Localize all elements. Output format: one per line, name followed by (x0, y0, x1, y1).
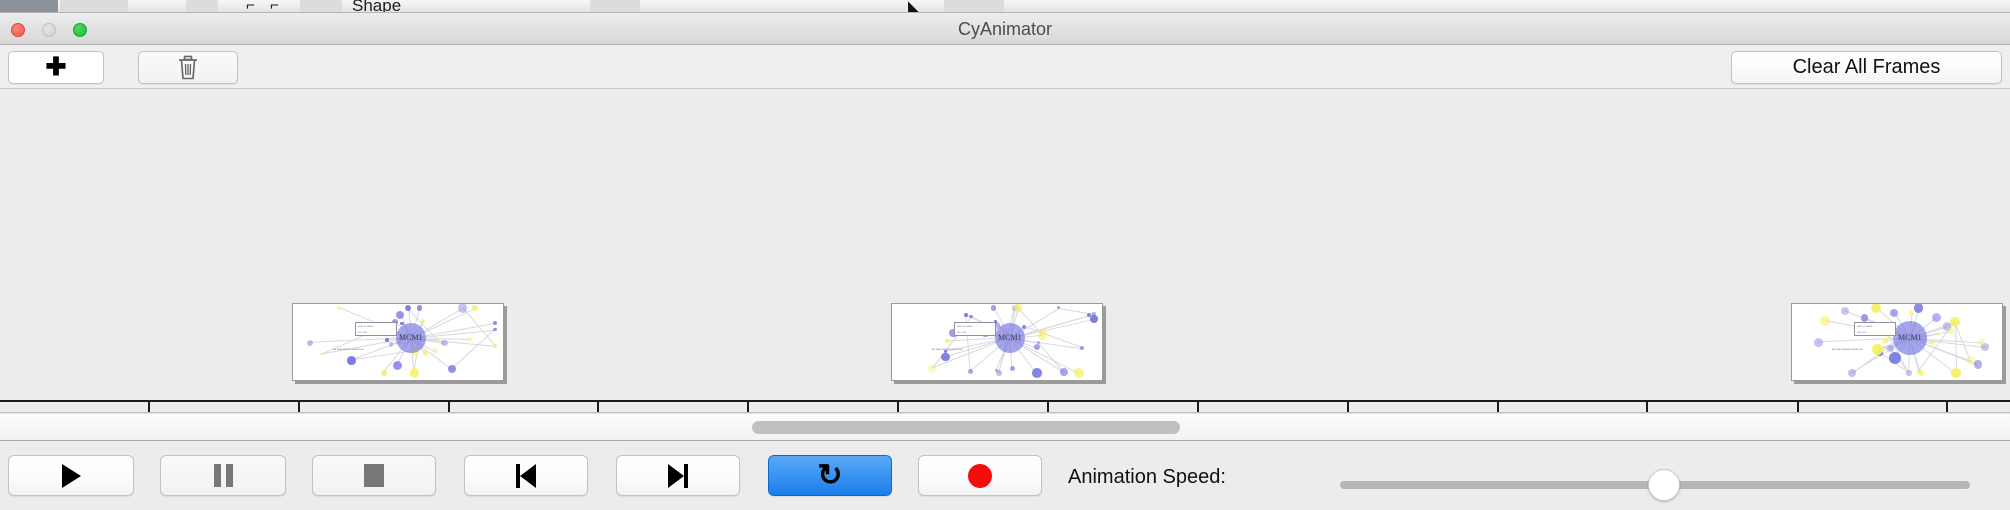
tick-minor-2 (747, 402, 749, 412)
tick-major-17 (1497, 402, 1499, 413)
network-edge (1852, 353, 1880, 374)
network-annotation-text: •••• •••• (957, 330, 966, 334)
network-annotation-text: ••••• •• •••••• (1857, 324, 1872, 328)
network-node (458, 303, 467, 312)
network-node (1951, 368, 1961, 378)
tick-minor-1 (448, 402, 450, 412)
plus-icon: ✚ (46, 55, 67, 80)
network-annotation-text: ••••• •• •••••• (358, 324, 373, 328)
network-hub-label: MCM1 (399, 333, 423, 342)
loop-button[interactable]: ↻ (768, 455, 892, 496)
network-node (320, 353, 323, 356)
clear-all-frames-label: Clear All Frames (1793, 56, 1941, 79)
network-node (1936, 332, 1940, 336)
transport-bar: ↻ Animation Speed: (0, 441, 2010, 510)
animation-speed-label: Animation Speed: (1068, 466, 1226, 489)
clear-all-frames-button[interactable]: Clear All Frames (1731, 51, 2002, 84)
network-edge (451, 329, 495, 369)
network-node (1906, 370, 1912, 376)
tick-major-14 (597, 402, 599, 413)
network-node (964, 313, 967, 316)
network-node (472, 305, 479, 312)
timeline-frame-thumbnail[interactable]: MCM1••••• •• •••••••••• ••••••• ••••• ••… (1791, 303, 2003, 381)
network-preview: MCM1••••• •• •••••••••• ••••••• ••••• ••… (1792, 304, 2002, 380)
record-button[interactable] (918, 455, 1042, 496)
next-frame-button[interactable] (616, 455, 740, 496)
network-node (1848, 369, 1856, 377)
network-node (1871, 303, 1881, 313)
network-node (1060, 368, 1068, 376)
network-node (441, 340, 448, 347)
network-node (337, 306, 340, 309)
network-preview: MCM1••••• •• •••••••••• ••••••• ••••• ••… (892, 304, 1102, 380)
timeline-frame-thumbnail[interactable]: MCM1••••• •• •••••••••• ••••••• ••••• ••… (292, 303, 504, 381)
network-node (1038, 330, 1047, 339)
tick-minor-3 (1047, 402, 1049, 412)
bg-glyph: ◣ (908, 0, 920, 13)
network-node (1932, 313, 1941, 322)
network-node (385, 338, 389, 342)
network-annotation-text: •••• •••• (358, 330, 367, 334)
skip-back-icon (516, 464, 536, 488)
network-node (1080, 346, 1084, 350)
network-node (969, 315, 972, 318)
network-node (1914, 303, 1923, 312)
network-node (1034, 344, 1040, 350)
timeline-panel[interactable]: MCM1••••• •• •••••••••• ••••••• ••••• ••… (0, 89, 2010, 413)
network-node (1950, 317, 1960, 327)
network-node (424, 350, 427, 353)
network-node (1814, 338, 1823, 347)
network-node (381, 370, 387, 376)
animation-speed-slider-thumb[interactable] (1648, 469, 1680, 501)
network-node (493, 344, 497, 348)
add-frame-button[interactable]: ✚ (8, 51, 104, 84)
tick-minor-6 (1946, 402, 1948, 412)
network-node (1010, 366, 1015, 371)
network-node (1022, 325, 1026, 329)
timeline-frame-thumbnail[interactable]: MCM1••••• •• •••••••••• ••••••• ••••• ••… (891, 303, 1103, 381)
network-node (1947, 328, 1954, 335)
network-node (347, 356, 356, 365)
network-preview: MCM1••••• •• •••••••••• ••••••• ••••• ••… (293, 304, 503, 380)
bg-chunk (590, 0, 640, 13)
tick-major-16 (1197, 402, 1199, 413)
network-node (1909, 310, 1915, 316)
bg-window-shape-label: Shape (352, 0, 401, 13)
timeline-axis (0, 400, 2010, 402)
network-node (436, 338, 441, 343)
window-titlebar: CyAnimator (0, 13, 2010, 45)
network-caption-text: ••• ••••• •••••••• ••••••• ••• (333, 347, 364, 351)
network-node (1918, 370, 1924, 376)
pause-button[interactable] (160, 455, 286, 496)
bg-chunk (60, 0, 128, 13)
tick-minor-0 (148, 402, 150, 412)
network-hub-label: MCM1 (998, 333, 1022, 342)
network-caption-text: ••• ••••• •••••••• ••••••• ••• (1832, 347, 1863, 351)
network-node (1974, 360, 1983, 369)
network-node (448, 365, 457, 374)
skip-forward-icon (668, 464, 688, 488)
record-icon (968, 464, 992, 488)
loop-icon: ↻ (817, 461, 842, 491)
network-node (945, 339, 949, 343)
network-annotation-text: •••• •••• (1857, 330, 1866, 334)
play-icon (62, 464, 81, 488)
tick-minor-5 (1646, 402, 1648, 412)
network-node (1032, 368, 1041, 377)
network-node (1890, 309, 1898, 317)
network-node (1882, 338, 1888, 344)
network-node (1889, 352, 1901, 364)
network-node (995, 369, 998, 372)
network-node (307, 340, 313, 346)
window-title: CyAnimator (0, 13, 2010, 45)
network-node (421, 319, 425, 323)
network-caption-text: ••• ••••• •••••••• ••••••• ••• (932, 347, 963, 351)
pause-icon (214, 464, 233, 487)
bg-chunk (944, 0, 1004, 13)
network-node (1841, 307, 1849, 315)
network-node (410, 368, 419, 377)
network-node (1930, 341, 1935, 346)
tick-major-13 (298, 402, 300, 413)
network-node (968, 369, 973, 374)
network-hub-label: MCM1 (1898, 333, 1922, 342)
network-node (1090, 315, 1098, 323)
tick-minor-4 (1347, 402, 1349, 412)
play-button[interactable] (8, 455, 134, 496)
network-node (393, 361, 402, 370)
network-node (433, 348, 439, 354)
tick-major-15 (897, 402, 899, 413)
background-window-strip: ⌐ ⌐ ◣ Shape (0, 0, 2010, 13)
network-node (467, 337, 471, 341)
bg-glyph: ⌐ (270, 0, 279, 13)
timeline-scrollbar[interactable] (0, 413, 2010, 441)
prev-frame-button[interactable] (464, 455, 588, 496)
network-node (493, 328, 496, 331)
stop-icon (364, 464, 384, 487)
network-node (389, 342, 394, 347)
network-node (1074, 368, 1083, 377)
trash-icon (177, 55, 199, 81)
network-node (1820, 316, 1830, 326)
tick-major-18 (1797, 402, 1799, 413)
stop-button[interactable] (312, 455, 436, 496)
bg-glyph: ⌐ (246, 0, 255, 13)
network-node (417, 305, 422, 310)
bg-chunk (0, 0, 58, 13)
network-annotation-text: ••••• •• •••••• (957, 324, 972, 328)
delete-frame-button[interactable] (138, 51, 238, 84)
frame-toolbar: ✚ Clear All Frames (0, 45, 2010, 89)
network-node (928, 364, 936, 372)
bg-chunk (300, 0, 342, 13)
network-node (493, 321, 497, 325)
timeline-scrollbar-thumb[interactable] (752, 421, 1180, 434)
bg-chunk (186, 0, 218, 13)
